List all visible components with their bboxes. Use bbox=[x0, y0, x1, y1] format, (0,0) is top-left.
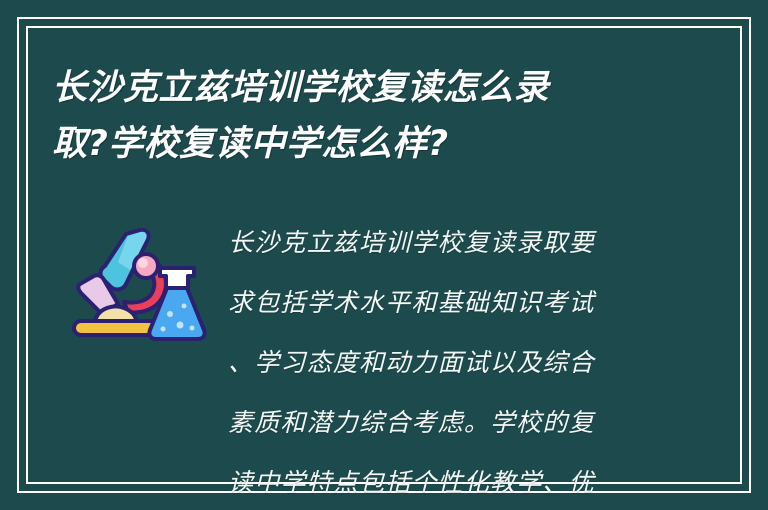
poster-canvas: 长沙克立兹培训学校复读怎么录 取?学校复读中学怎么样? bbox=[0, 0, 768, 510]
body-line-3: 、学习态度和动力面试以及综合 bbox=[228, 333, 658, 393]
body-line-2: 求包括学术水平和基础知识考试 bbox=[228, 273, 658, 333]
body-line-1: 长沙克立兹培训学校复读录取要 bbox=[228, 213, 658, 273]
page-title: 长沙克立兹培训学校复读怎么录 取?学校复读中学怎么样? bbox=[52, 60, 652, 172]
body-line-5: 读中学特点包括个性化教学、优 bbox=[228, 453, 658, 510]
title-line-1: 长沙克立兹培训学校复读怎么录 bbox=[52, 60, 652, 116]
title-line-2: 取?学校复读中学怎么样? bbox=[52, 116, 652, 172]
microscope-and-flask-illustration bbox=[62, 222, 208, 347]
body-line-4: 素质和潜力综合考虑。学校的复 bbox=[228, 393, 658, 453]
body-paragraph: 长沙克立兹培训学校复读录取要 求包括学术水平和基础知识考试 、学习态度和动力面试… bbox=[228, 213, 658, 510]
